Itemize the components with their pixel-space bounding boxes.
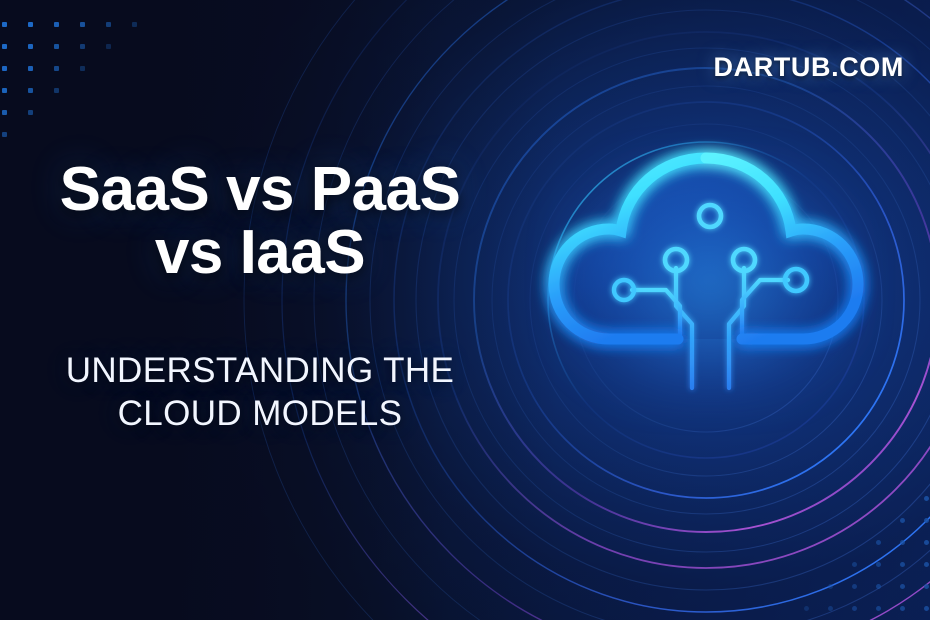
brand-logo: DARTUB.COM	[714, 52, 904, 83]
page-title: SaaS vs PaaS vs IaaS	[0, 158, 520, 284]
page-subtitle-line2: CLOUD MODELS	[0, 393, 520, 436]
dot-grid-bottom-right	[780, 496, 930, 620]
cloud-circuit-icon	[520, 120, 900, 460]
poster-canvas: DARTUB.COM SaaS vs PaaS vs IaaS UNDERSTA…	[0, 0, 930, 620]
dot-grid-top-left	[2, 22, 122, 132]
circuit-trace-tails	[692, 350, 729, 420]
page-title-line1: SaaS vs PaaS	[60, 155, 461, 224]
page-subtitle-line1: UNDERSTANDING THE	[66, 351, 455, 390]
page-title-line2: vs IaaS	[0, 221, 520, 284]
page-subtitle: UNDERSTANDING THE CLOUD MODELS	[0, 350, 520, 435]
